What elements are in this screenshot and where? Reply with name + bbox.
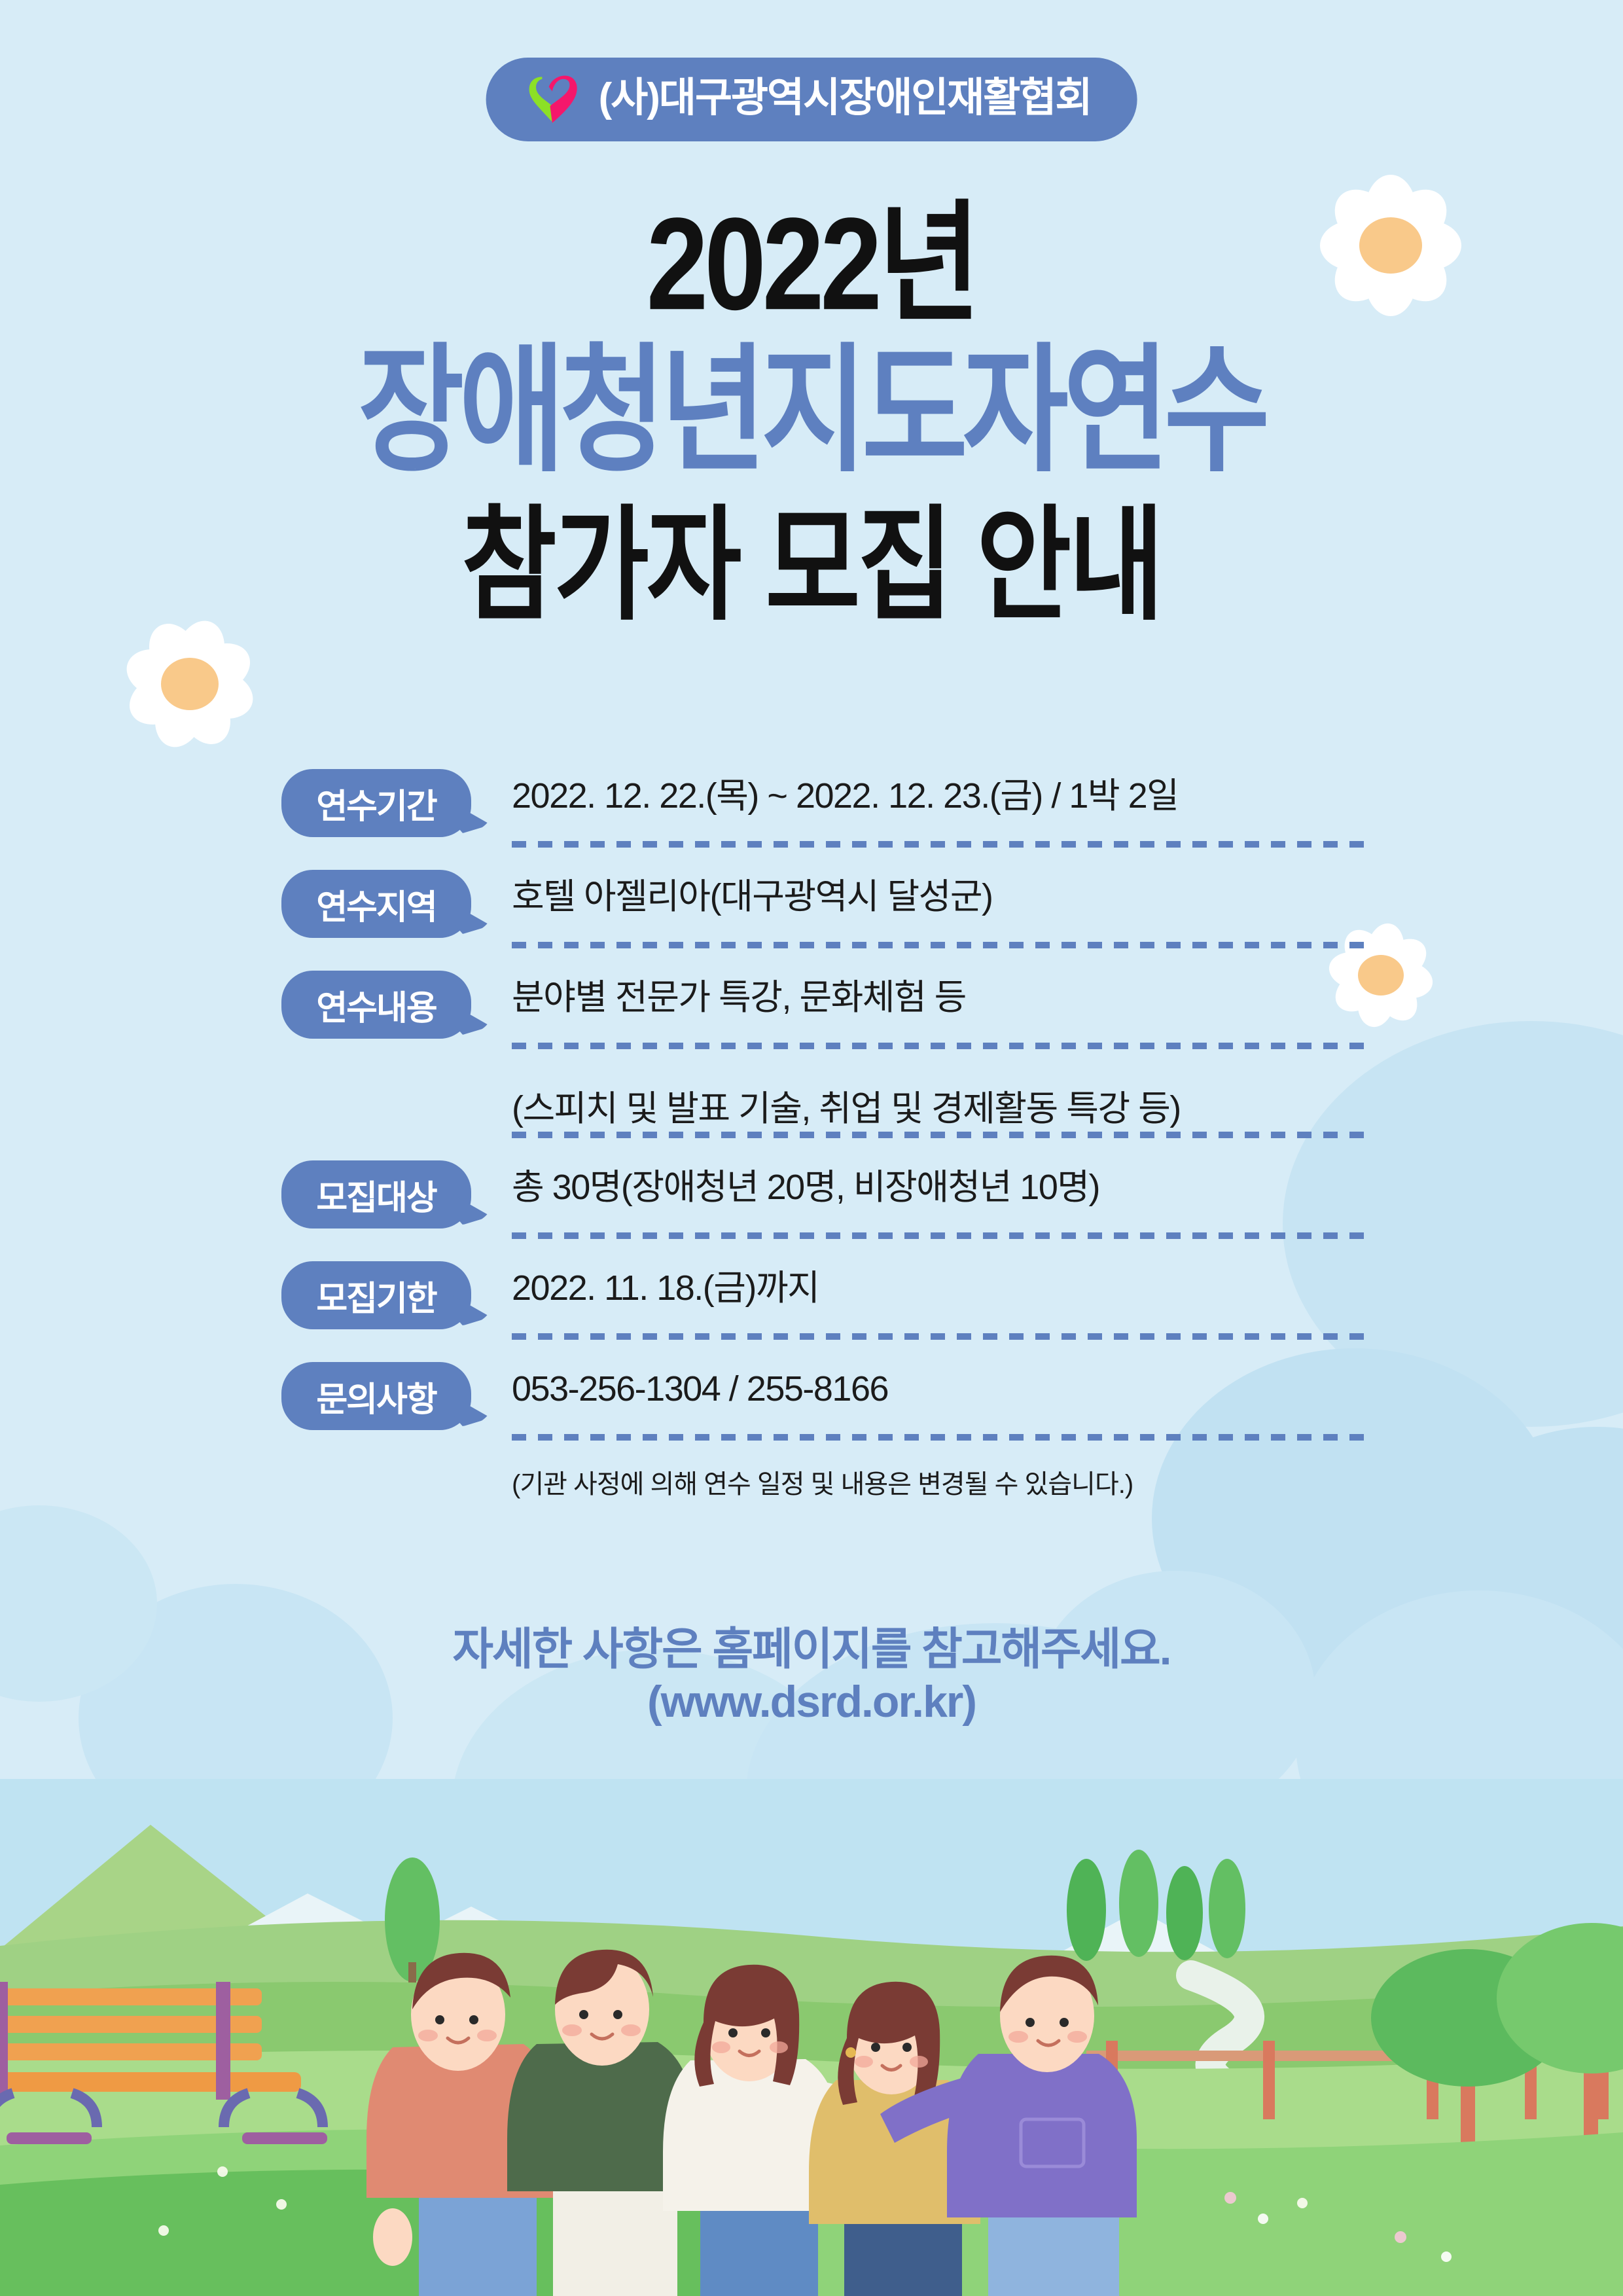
info-label-contact: 문의사항 — [281, 1362, 471, 1430]
title-line-year: 2022년 — [0, 196, 1623, 333]
info-list: 연수기간 2022. 12. 22.(목) ~ 2022. 12. 23.(금)… — [281, 769, 1374, 1501]
page-title: 2022년 장애청년지도자연수 참가자 모집 안내 — [0, 196, 1623, 609]
info-extra-content: (스피치 및 발표 기술, 취업 및 경제활동 특강 등) — [281, 1083, 1374, 1128]
info-label-text: 모집기한 — [316, 1271, 436, 1320]
five-people-group — [366, 1950, 1137, 2296]
info-label-period: 연수기간 — [281, 769, 471, 837]
info-label-text: 연수지역 — [316, 880, 436, 929]
info-row: 연수기간 2022. 12. 22.(목) ~ 2022. 12. 23.(금)… — [281, 769, 1374, 848]
row-divider — [512, 1043, 1374, 1049]
website-url[interactable]: (www.dsrd.or.kr) — [0, 1676, 1623, 1728]
row-divider — [512, 841, 1374, 848]
footer-message: 자세한 사항은 홈페이지를 참고해주세요. — [0, 1623, 1623, 1676]
poster-root: (사)대구광역시장애인재활협회 2022년 장애청년지도자연수 참가자 모집 안… — [0, 0, 1623, 2296]
park-illustration — [0, 1779, 1623, 2296]
info-row: 문의사항 053-256-1304 / 255-8166 — [281, 1362, 1374, 1441]
info-value-location: 호텔 아젤리아(대구광역시 달성군) — [471, 870, 1374, 916]
title-line-subject: 참가자 모집 안내 — [0, 501, 1623, 630]
disclaimer-note: (기관 사정에 의해 연수 일정 및 내용은 변경될 수 있습니다.) — [512, 1463, 1374, 1501]
row-divider — [512, 1132, 1374, 1138]
footer-links: 자세한 사항은 홈페이지를 참고해주세요. (www.dsrd.or.kr) — [0, 1623, 1623, 1728]
info-label-text: 문의사항 — [316, 1372, 436, 1421]
info-label-target: 모집대상 — [281, 1160, 471, 1229]
info-row: 모집기한 2022. 11. 18.(금)까지 — [281, 1261, 1374, 1340]
organization-name: (사)대구광역시장애인재활협회 — [599, 78, 1092, 118]
info-label-text: 연수내용 — [316, 980, 436, 1030]
info-label-content: 연수내용 — [281, 971, 471, 1039]
info-value-period: 2022. 12. 22.(목) ~ 2022. 12. 23.(금) / 1박… — [471, 769, 1374, 815]
row-divider — [512, 1232, 1374, 1239]
info-row: 연수내용 분야별 전문가 특강, 문화체험 등 (스피치 및 발표 기술, 취업… — [281, 971, 1374, 1138]
info-label-text: 모집대상 — [316, 1170, 436, 1219]
info-label-location: 연수지역 — [281, 870, 471, 938]
info-value-content: 분야별 전문가 특강, 문화체험 등 — [471, 971, 1374, 1016]
title-line-program: 장애청년지도자연수 — [0, 340, 1623, 484]
info-label-deadline: 모집기한 — [281, 1261, 471, 1329]
daisy-flower-icon — [115, 609, 265, 759]
info-row: 연수지역 호텔 아젤리아(대구광역시 달성군) — [281, 870, 1374, 948]
info-row: 모집대상 총 30명(장애청년 20명, 비장애청년 10명) — [281, 1160, 1374, 1239]
organization-badge: (사)대구광역시장애인재활협회 — [486, 58, 1137, 141]
info-value-target: 총 30명(장애청년 20명, 비장애청년 10명) — [471, 1160, 1374, 1206]
info-value-content-detail: (스피치 및 발표 기술, 취업 및 경제활동 특강 등) — [512, 1083, 1374, 1128]
row-divider — [512, 1333, 1374, 1340]
row-divider — [512, 942, 1374, 948]
row-divider — [512, 1434, 1374, 1441]
info-value-deadline: 2022. 11. 18.(금)까지 — [471, 1261, 1374, 1307]
info-value-contact: 053-256-1304 / 255-8166 — [471, 1362, 1374, 1408]
heart-logo-icon — [526, 72, 582, 124]
info-label-text: 연수기간 — [316, 779, 436, 828]
